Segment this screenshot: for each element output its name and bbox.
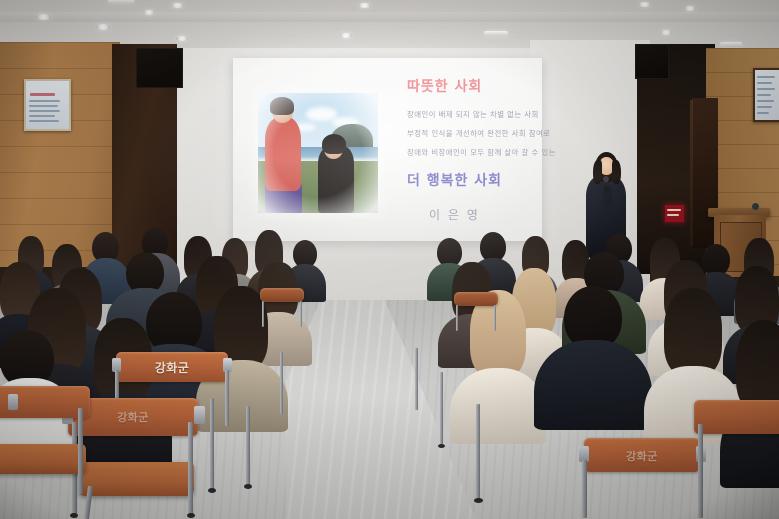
photo-soft-edge xyxy=(258,93,378,213)
downlight-icon xyxy=(638,2,651,7)
chair[interactable] xyxy=(690,400,779,519)
downlight-icon xyxy=(143,10,155,15)
chair-leg xyxy=(456,305,458,331)
plaque-text-line xyxy=(757,100,774,102)
chair-bracket xyxy=(194,406,205,424)
chair-leg xyxy=(494,305,496,331)
chair-foot xyxy=(208,488,216,493)
downlight-icon xyxy=(176,36,188,41)
slot-light xyxy=(484,31,508,36)
chair-leg xyxy=(262,301,264,327)
chair-backrest: 강화군 xyxy=(584,438,700,472)
chair[interactable] xyxy=(252,352,296,422)
podium-microphone-icon xyxy=(752,203,759,210)
microphone-head-icon xyxy=(603,176,609,182)
slide-photo xyxy=(258,93,378,213)
chair-backrest xyxy=(260,288,304,302)
chair-foot xyxy=(438,444,445,448)
ceiling-mounted-panel xyxy=(635,44,669,79)
downlight-icon xyxy=(660,30,672,35)
plaque-text-line xyxy=(757,88,775,90)
plaque-text-line xyxy=(757,82,772,84)
chair[interactable] xyxy=(0,386,100,496)
chair-leg xyxy=(78,408,83,494)
chair-bracket xyxy=(8,394,18,410)
speaker-hair-side xyxy=(593,160,602,184)
projection-screen: 따뜻한 사회 장애인이 배제 되지 않는 차별 없는 사회 부정적 인식을 개선… xyxy=(233,58,542,241)
poster-text-line xyxy=(29,100,60,102)
lecture-hall-photo: 따뜻한 사회 장애인이 배제 되지 않는 차별 없는 사회 부정적 인식을 개선… xyxy=(0,0,779,519)
wall-monitor xyxy=(136,48,183,88)
downlight-icon xyxy=(171,3,184,8)
poster-text-line xyxy=(29,115,55,117)
slide-title-bottom: 더 행복한 사회 xyxy=(407,170,502,190)
audience-shoulders xyxy=(534,340,652,430)
slide-body-line-1: 장애인이 배제 되지 않는 차별 없는 사회 xyxy=(407,109,539,120)
chair-leg xyxy=(280,352,283,414)
chair-seat xyxy=(0,444,86,474)
chair-backrest: 강화군 xyxy=(116,352,228,382)
right-notice-frame xyxy=(753,68,779,122)
slide-presenter-name: 이 은 영 xyxy=(429,206,480,223)
chair-foot xyxy=(244,484,252,489)
chair[interactable] xyxy=(258,288,306,328)
downlight-icon xyxy=(36,14,51,20)
chair-leg xyxy=(698,424,703,516)
poster-text-line xyxy=(29,120,58,122)
ceiling-recess-strip xyxy=(0,12,779,22)
slot-light xyxy=(720,42,742,47)
chair-leg xyxy=(210,398,214,490)
chair-foot xyxy=(187,513,195,518)
poster-heading-line xyxy=(30,93,55,96)
downlight-icon xyxy=(358,3,371,8)
chair[interactable]: 강화군 xyxy=(578,438,706,518)
chair-backrest xyxy=(694,400,779,434)
slide-body-line-3: 장애와 비장애인이 모두 함께 살아 갈 수 있는 xyxy=(407,147,556,158)
door-edge-highlight xyxy=(690,100,693,246)
plaque-text-line xyxy=(757,76,775,78)
chair-backrest xyxy=(454,292,498,306)
left-notice-frame xyxy=(24,79,71,131)
chair-venue-label: 강화군 xyxy=(584,448,700,464)
speaker-hair-side xyxy=(612,160,621,184)
downlight-icon xyxy=(96,24,110,30)
chair-foot xyxy=(70,513,78,518)
slide-title-top: 따뜻한 사회 xyxy=(407,76,482,96)
chair-leg xyxy=(582,460,587,518)
chair-leg xyxy=(188,422,193,518)
exit-sign-text-line xyxy=(667,209,681,211)
downlight-icon xyxy=(684,6,696,11)
downlight-icon xyxy=(340,33,352,38)
chair[interactable] xyxy=(452,292,500,332)
plaque-text-line xyxy=(757,112,769,114)
slide-body-line-2: 부정적 인식을 개선하여 완전한 사회 참여로 xyxy=(407,128,550,139)
chair-leg xyxy=(300,301,302,327)
poster-text-line xyxy=(29,105,57,107)
chair-foot xyxy=(474,498,483,503)
chair-venue-label: 강화군 xyxy=(116,359,228,376)
exit-sign xyxy=(664,204,685,223)
audience-hair xyxy=(736,320,779,412)
chair-leg xyxy=(415,348,418,410)
exit-sign-text-line xyxy=(667,214,678,216)
slot-light xyxy=(108,0,134,3)
chair[interactable] xyxy=(412,348,456,418)
audience-hair xyxy=(664,288,722,376)
poster-text-line xyxy=(29,110,59,112)
chair-leg xyxy=(246,406,250,486)
plaque-text-line xyxy=(757,94,771,96)
plaque-text-line xyxy=(757,106,772,108)
